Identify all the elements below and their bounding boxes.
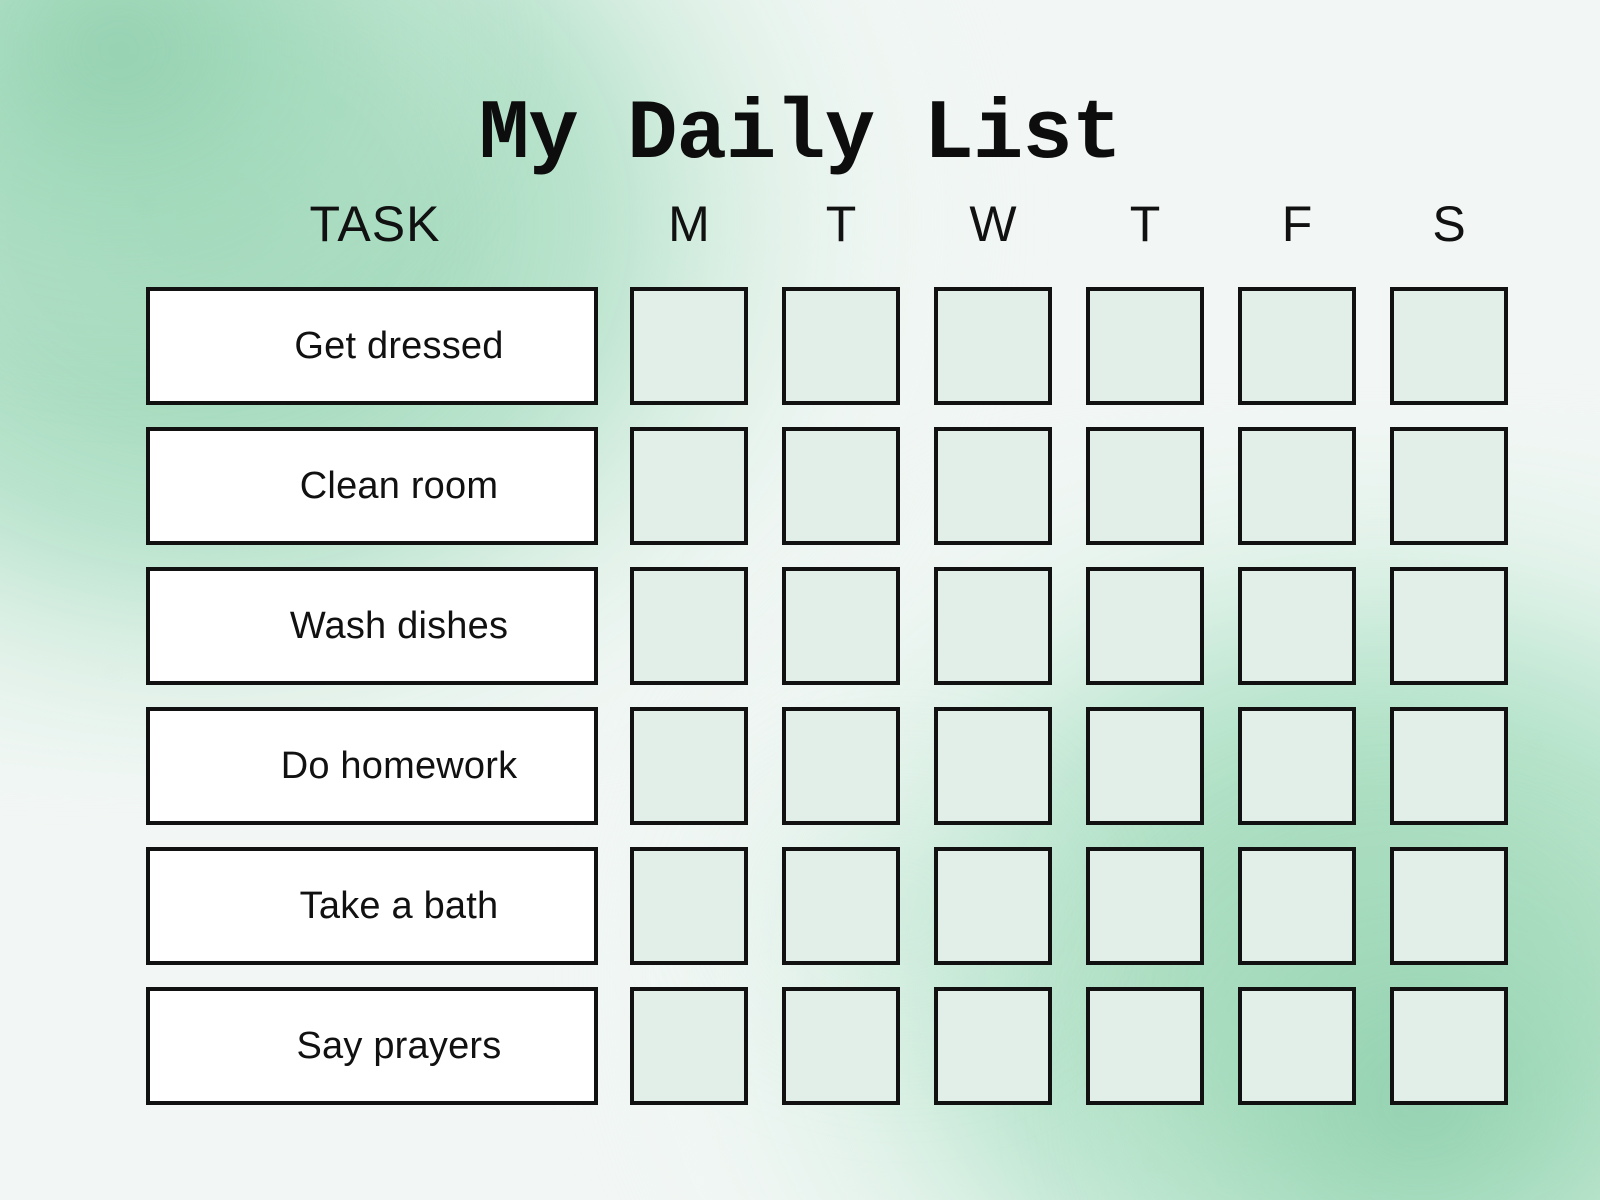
day-column-header-0: M [630, 192, 748, 256]
checkbox-cell[interactable] [782, 987, 900, 1105]
checkbox-cell[interactable] [782, 427, 900, 545]
checkbox-cell[interactable] [1086, 987, 1204, 1105]
day-column-header-4: F [1238, 192, 1356, 256]
checkbox-cell[interactable] [934, 707, 1052, 825]
checkbox-cell[interactable] [1390, 427, 1508, 545]
table-header-row: TASK MTWTFS [146, 192, 1452, 256]
task-label: Do homework [227, 745, 518, 788]
day-column-header-3: T [1086, 192, 1204, 256]
task-label: Clean room [246, 465, 498, 508]
task-label: Wash dishes [236, 605, 508, 648]
checkbox-cell[interactable] [1390, 987, 1508, 1105]
checkbox-cell[interactable] [1238, 707, 1356, 825]
task-name-box[interactable]: Get dressed [146, 287, 598, 405]
task-name-box[interactable]: Clean room [146, 427, 598, 545]
checkbox-cell[interactable] [934, 427, 1052, 545]
checkbox-cell[interactable] [630, 987, 748, 1105]
checkbox-cell[interactable] [1238, 847, 1356, 965]
task-name-box[interactable]: Say prayers [146, 987, 598, 1105]
page-title: My Daily List [0, 94, 1600, 178]
checkbox-cell[interactable] [934, 567, 1052, 685]
checkbox-cell[interactable] [1390, 287, 1508, 405]
table-row: Take a bath [146, 847, 1452, 965]
checkbox-cell[interactable] [934, 987, 1052, 1105]
day-column-header-5: S [1390, 192, 1508, 256]
checkbox-cell[interactable] [1086, 707, 1204, 825]
checkbox-cell[interactable] [1086, 847, 1204, 965]
checkbox-cell[interactable] [630, 847, 748, 965]
table-row: Wash dishes [146, 567, 1452, 685]
task-label: Take a bath [246, 885, 499, 928]
checkbox-cell[interactable] [1390, 567, 1508, 685]
checkbox-cell[interactable] [782, 847, 900, 965]
task-name-box[interactable]: Wash dishes [146, 567, 598, 685]
checkbox-cell[interactable] [782, 567, 900, 685]
checkbox-cell[interactable] [1086, 427, 1204, 545]
checkbox-cell[interactable] [1086, 287, 1204, 405]
checkbox-cell[interactable] [630, 287, 748, 405]
task-label: Get dressed [240, 325, 503, 368]
checkbox-cell[interactable] [1390, 707, 1508, 825]
checkbox-cell[interactable] [782, 707, 900, 825]
checkbox-cell[interactable] [630, 567, 748, 685]
day-column-header-1: T [782, 192, 900, 256]
task-name-box[interactable]: Take a bath [146, 847, 598, 965]
checkbox-cell[interactable] [934, 287, 1052, 405]
task-column-header: TASK [146, 192, 604, 256]
checkbox-cell[interactable] [1390, 847, 1508, 965]
checkbox-cell[interactable] [934, 847, 1052, 965]
checkbox-cell[interactable] [1086, 567, 1204, 685]
chore-chart-page: My Daily List TASK MTWTFS Get dressedCle… [0, 0, 1600, 1200]
table-row: Get dressed [146, 287, 1452, 405]
table-row: Do homework [146, 707, 1452, 825]
checkbox-cell[interactable] [1238, 427, 1356, 545]
checkbox-cell[interactable] [630, 707, 748, 825]
table-row: Clean room [146, 427, 1452, 545]
checkbox-cell[interactable] [1238, 567, 1356, 685]
checkbox-cell[interactable] [630, 427, 748, 545]
checkbox-cell[interactable] [1238, 987, 1356, 1105]
day-column-header-2: W [934, 192, 1052, 256]
checkbox-cell[interactable] [782, 287, 900, 405]
task-label: Say prayers [243, 1025, 502, 1068]
checkbox-cell[interactable] [1238, 287, 1356, 405]
table-row: Say prayers [146, 987, 1452, 1105]
task-name-box[interactable]: Do homework [146, 707, 598, 825]
